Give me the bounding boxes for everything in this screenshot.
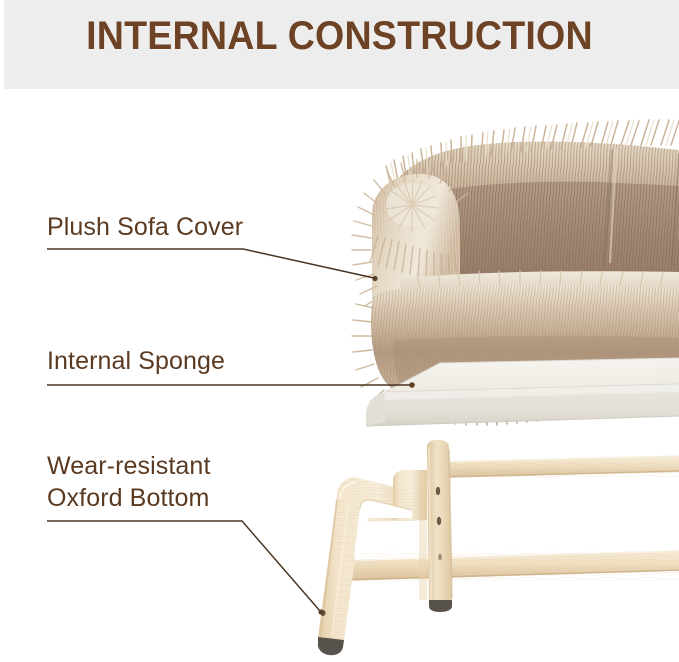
screw-hole: [436, 487, 440, 495]
wood-leg-rear: [427, 440, 452, 612]
foot-pad: [429, 600, 452, 612]
wooden-frame-image: [318, 440, 679, 655]
upper-dowel-rail: [438, 456, 679, 478]
screw-hole: [437, 517, 441, 525]
callout-label-plush-sofa-cover: Plush Sofa Cover: [47, 211, 243, 243]
foot-pad: [318, 637, 344, 655]
lower-dowel-rail: [340, 551, 679, 581]
screw-hole: [438, 554, 442, 561]
screw-hole: [320, 610, 325, 616]
product-exploded-illustration: [0, 0, 679, 662]
callout-label-oxford-bottom: Wear-resistant Oxford Bottom: [47, 450, 211, 514]
callout-label-internal-sponge: Internal Sponge: [47, 345, 225, 377]
product-infographic: INTERNAL CONSTRUCTION: [0, 0, 679, 662]
